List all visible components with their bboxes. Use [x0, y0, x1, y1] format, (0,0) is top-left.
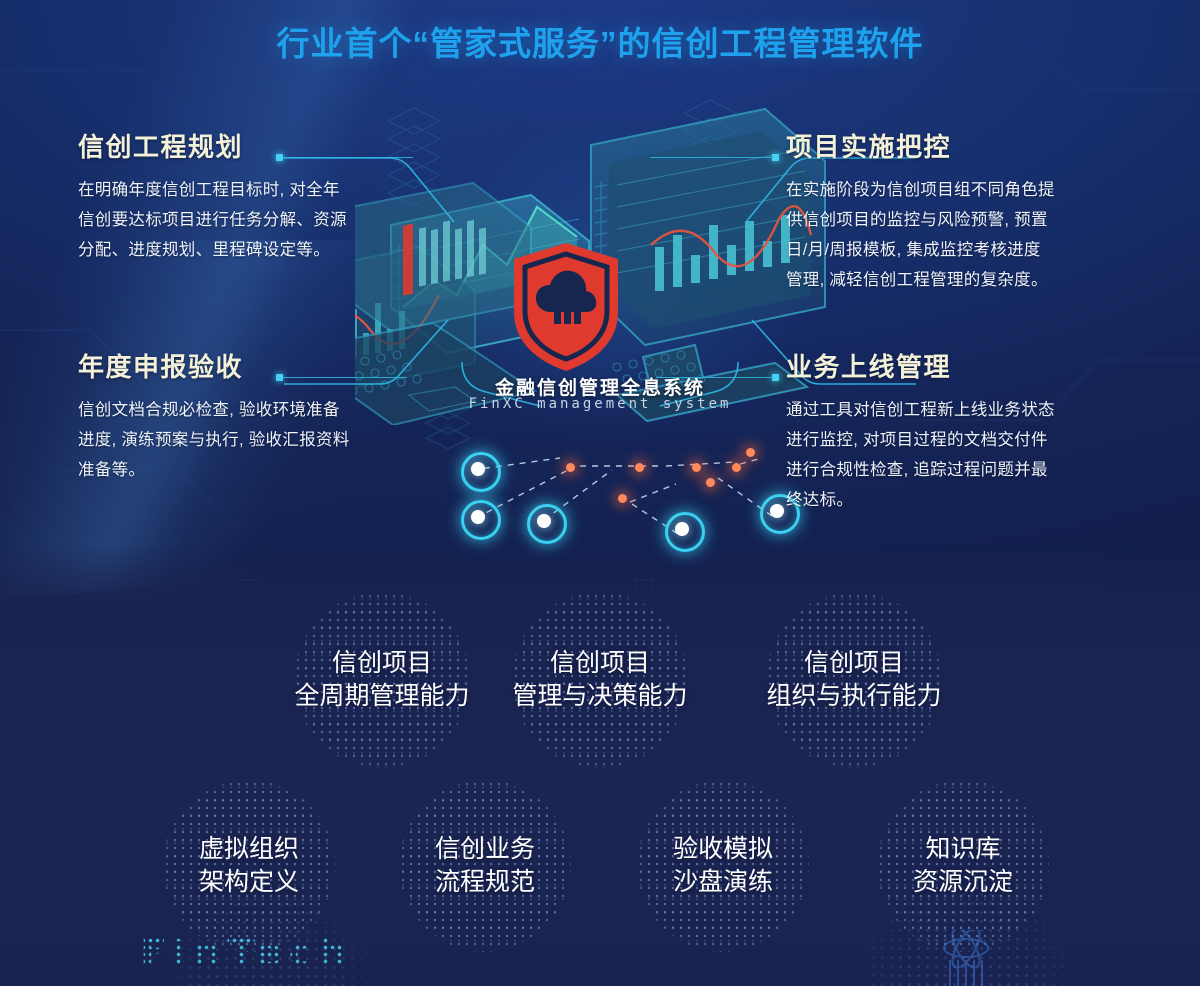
network-accent-dot	[706, 478, 715, 487]
capability-label-line: 全周期管理能力	[294, 680, 470, 713]
feature-body-line: 准备等。	[78, 455, 430, 485]
tool-label-line: 沙盘演练	[637, 866, 809, 899]
feature-block-acceptance: 年度申报验收 信创文档合规必检查, 验收环境准备 进度, 演练预案与执行, 验收…	[78, 353, 430, 485]
tool-sphere: 验收模拟 沙盘演练	[637, 780, 809, 952]
tool-label-line: 流程规范	[399, 866, 571, 899]
capability-label-line: 信创项目	[766, 647, 942, 680]
bottom-atom-icon	[920, 930, 1012, 986]
connector-line	[656, 377, 774, 378]
capability-label-line: 信创项目	[512, 647, 688, 680]
feature-body-line: 终达标。	[786, 485, 1138, 515]
feature-block-golive: 业务上线管理 通过工具对信创工程新上线业务状态 进行监控, 对项目过程的文档交付…	[786, 353, 1138, 515]
capability-sphere: 信创项目 管理与决策能力	[512, 592, 688, 768]
feature-body-line: 进行合规性检查, 追踪过程问题并最	[786, 455, 1138, 485]
fintech-watermark: FinTech	[140, 930, 353, 976]
network-accent-dot	[732, 463, 741, 472]
page-title: 行业首个“管家式服务”的信创工程管理软件	[0, 17, 1200, 65]
capability-label-line: 组织与执行能力	[766, 680, 942, 713]
tool-label: 验收模拟 沙盘演练	[637, 833, 809, 899]
feature-body-line: 在实施阶段为信创项目组不同角色提	[786, 175, 1138, 205]
feature-body: 在实施阶段为信创项目组不同角色提 供信创项目的监控与风险预警, 预置 日/月/周…	[786, 175, 1138, 295]
feature-body-line: 供信创项目的监控与风险预警, 预置	[786, 205, 1138, 235]
feature-body-line: 进度, 演练预案与执行, 验收汇报资料	[78, 425, 430, 455]
tool-label-line: 虚拟组织	[163, 833, 335, 866]
feature-block-implementation: 项目实施把控 在实施阶段为信创项目组不同角色提 供信创项目的监控与风险预警, 预…	[786, 133, 1138, 295]
tool-sphere: 信创业务 流程规范	[399, 780, 571, 952]
feature-block-planning: 信创工程规划 在明确年度信创工程目标时, 对全年 信创要达标项目进行任务分解、资…	[78, 133, 430, 265]
connector-line	[283, 377, 407, 378]
network-node	[461, 452, 501, 492]
feature-body-line: 通过工具对信创工程新上线业务状态	[786, 395, 1138, 425]
feature-body-line: 日/月/周报模板, 集成监控考核进度	[786, 235, 1138, 265]
feature-body-line: 信创文档合规必检查, 验收环境准备	[78, 395, 430, 425]
capability-label: 信创项目 组织与执行能力	[766, 647, 942, 713]
connector-line	[283, 157, 413, 158]
network-accent-dot	[618, 494, 627, 503]
tool-label-line: 验收模拟	[637, 833, 809, 866]
capability-label: 信创项目 管理与决策能力	[512, 647, 688, 713]
feature-heading: 项目实施把控	[786, 133, 1138, 162]
capability-sphere: 信创项目 全周期管理能力	[294, 592, 470, 768]
network-node	[461, 500, 501, 540]
feature-body-line: 在明确年度信创工程目标时, 对全年	[78, 175, 430, 205]
tool-label-line: 知识库	[877, 833, 1049, 866]
feature-body-line: 管理, 减轻信创工程管理的复杂度。	[786, 265, 1138, 295]
feature-body-line: 信创要达标项目进行任务分解、资源	[78, 205, 430, 235]
capability-sphere: 信创项目 组织与执行能力	[766, 592, 942, 768]
capability-label-line: 信创项目	[294, 647, 470, 680]
feature-body: 在明确年度信创工程目标时, 对全年 信创要达标项目进行任务分解、资源 分配、进度…	[78, 175, 430, 265]
tool-label: 信创业务 流程规范	[399, 833, 571, 899]
connector-dot	[276, 154, 283, 161]
feature-body: 通过工具对信创工程新上线业务状态 进行监控, 对项目过程的文档交付件 进行合规性…	[786, 395, 1138, 515]
infographic-canvas: 行业首个“管家式服务”的信创工程管理软件	[0, 0, 1200, 986]
capability-label: 信创项目 全周期管理能力	[294, 647, 470, 713]
feature-heading: 业务上线管理	[786, 353, 1138, 382]
feature-body-line: 进行监控, 对项目过程的文档交付件	[786, 425, 1138, 455]
network-accent-dot	[566, 463, 575, 472]
connector-line	[650, 157, 774, 158]
capability-label-line: 管理与决策能力	[512, 680, 688, 713]
tool-label-line: 信创业务	[399, 833, 571, 866]
network-accent-dot	[635, 463, 644, 472]
connector-dot	[276, 374, 283, 381]
tool-label-line: 架构定义	[163, 866, 335, 899]
network-accent-dot	[746, 448, 755, 457]
shield-cloud-chart-icon	[508, 240, 624, 374]
network-accent-dot	[692, 463, 701, 472]
feature-body: 信创文档合规必检查, 验收环境准备 进度, 演练预案与执行, 验收汇报资料 准备…	[78, 395, 430, 485]
network-node	[527, 504, 567, 544]
network-node	[665, 512, 705, 552]
tool-label: 虚拟组织 架构定义	[163, 833, 335, 899]
feature-body-line: 分配、进度规划、里程碑设定等。	[78, 235, 430, 265]
